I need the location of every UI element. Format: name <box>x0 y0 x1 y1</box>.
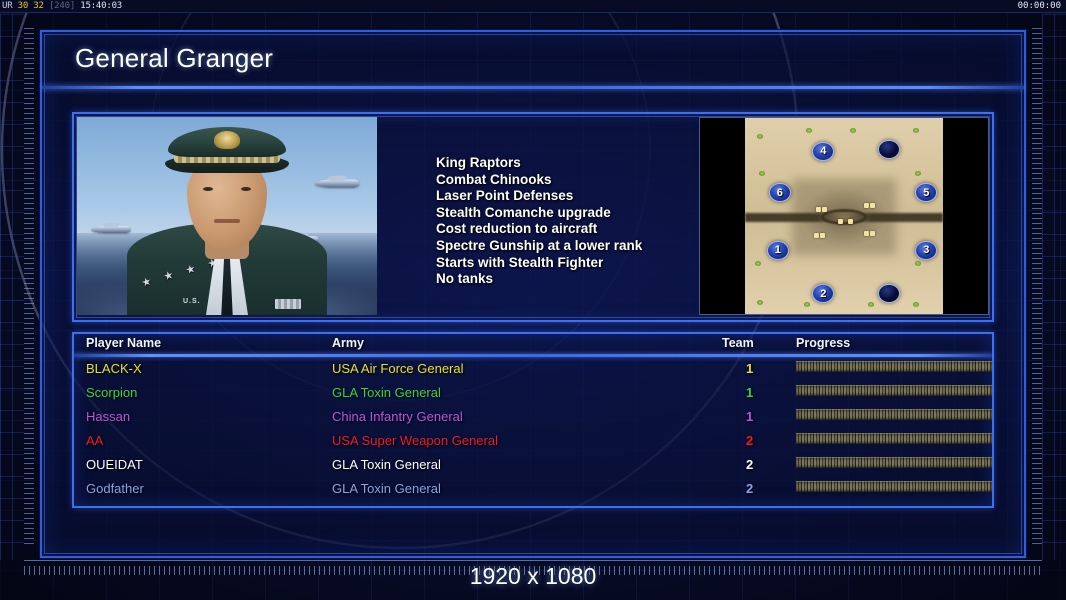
army-cell: USA Air Force General <box>332 361 464 376</box>
team-cell: 1 <box>746 385 753 400</box>
map-resource-icon <box>913 128 919 133</box>
player-name-cell: Scorpion <box>86 385 137 400</box>
map-resource-icon <box>806 128 812 133</box>
team-cell: 2 <box>746 457 753 472</box>
resolution-bar: 1920 x 1080 <box>0 560 1066 592</box>
ability-item: Spectre Gunship at a lower rank <box>436 238 692 255</box>
map-supply-icon <box>822 207 827 212</box>
ability-item: King Raptors <box>436 155 692 172</box>
team-cell: 1 <box>746 409 753 424</box>
progress-bar <box>796 385 992 396</box>
map-start-slot[interactable]: 2 <box>812 284 834 303</box>
frame-ticks-left <box>0 14 24 560</box>
map-resource-icon <box>757 134 763 139</box>
map-supply-icon <box>870 203 875 208</box>
ability-item: Laser Point Defenses <box>436 188 692 205</box>
column-header-player-name: Player Name <box>86 336 161 350</box>
match-timer: 00:00:00 <box>1018 1 1061 12</box>
resolution-label: 1920 x 1080 <box>470 563 597 590</box>
map-supply-icon <box>838 219 843 224</box>
map-start-slot-empty[interactable] <box>878 284 900 303</box>
table-row[interactable]: ScorpionGLA Toxin General1 <box>74 382 992 406</box>
fps-value-c: [240] <box>49 1 75 11</box>
map-supply-icon <box>864 203 869 208</box>
table-row[interactable]: OUEIDATGLA Toxin General2 <box>74 454 992 478</box>
map-resource-icon <box>915 171 921 176</box>
map-start-slot-empty[interactable] <box>878 140 900 159</box>
ability-item: Combat Chinooks <box>436 172 692 189</box>
map-resource-icon <box>850 128 856 133</box>
general-abilities-list: King Raptors Combat Chinooks Laser Point… <box>386 117 692 317</box>
map-preview: 465132 <box>699 117 989 315</box>
army-cell: China Infantry General <box>332 409 463 424</box>
map-supply-icon <box>864 231 869 236</box>
title-divider <box>42 86 1024 89</box>
table-row[interactable]: BLACK-XUSA Air Force General1 <box>74 358 992 382</box>
progress-bar <box>796 481 992 492</box>
ability-item: Cost reduction to aircraft <box>436 221 692 238</box>
map-terrain: 465132 <box>745 118 943 315</box>
ability-item: Starts with Stealth Fighter <box>436 255 692 272</box>
map-start-slot[interactable]: 1 <box>767 241 789 260</box>
army-cell: USA Super Weapon General <box>332 433 498 448</box>
map-resource-icon <box>868 302 874 307</box>
map-start-slot[interactable]: 6 <box>769 183 791 202</box>
map-start-slot[interactable]: 3 <box>915 241 937 260</box>
army-cell: GLA Toxin General <box>332 481 441 496</box>
fps-label: UR <box>2 1 12 11</box>
column-header-progress: Progress <box>796 336 850 350</box>
window-titlebar: General Granger <box>42 32 1024 88</box>
table-row[interactable]: HassanChina Infantry General1 <box>74 406 992 430</box>
frame-ticks-right <box>1042 14 1066 560</box>
army-cell: GLA Toxin General <box>332 457 441 472</box>
general-figure: ★ ★ ★ ★ U.S. <box>123 137 331 315</box>
ability-item: No tanks <box>436 271 692 288</box>
map-supply-icon <box>848 219 853 224</box>
team-cell: 2 <box>746 481 753 496</box>
column-header-army: Army <box>332 336 364 350</box>
map-resource-icon <box>759 171 765 176</box>
top-status-bar: UR 30 32 [240] 15:40:03 00:00:00 <box>0 0 1066 13</box>
map-resource-icon <box>757 300 763 305</box>
map-resource-icon <box>915 261 921 266</box>
fps-value-b: 32 <box>33 1 43 11</box>
table-row[interactable]: AAUSA Super Weapon General2 <box>74 430 992 454</box>
map-resource-icon <box>913 302 919 307</box>
fps-value-a: 30 <box>18 1 28 11</box>
eye-left <box>203 187 213 191</box>
ability-item: Stealth Comanche upgrade <box>436 205 692 222</box>
progress-bar <box>796 433 992 444</box>
map-center-ring <box>821 209 867 225</box>
eagle-emblem-icon <box>214 131 240 149</box>
player-name-cell: OUEIDAT <box>86 457 143 472</box>
screen-root: UR 30 32 [240] 15:40:03 00:00:00 General… <box>0 0 1066 600</box>
army-cell: GLA Toxin General <box>332 385 441 400</box>
player-name-cell: Hassan <box>86 409 130 424</box>
uniform-label: U.S. <box>183 298 201 305</box>
progress-bar <box>796 457 992 468</box>
ribbon-icon <box>275 299 301 309</box>
column-header-team: Team <box>722 336 754 350</box>
team-cell: 1 <box>746 361 753 376</box>
loading-window: General Granger ★ ★ ★ ★ U.S. <box>40 30 1026 558</box>
progress-bar <box>796 409 992 420</box>
table-header-divider <box>74 354 992 357</box>
fps-readout: UR 30 32 [240] 15:40:03 <box>2 1 122 12</box>
map-start-slot[interactable]: 5 <box>915 183 937 202</box>
table-header: Player Name Army Team Progress <box>74 334 992 356</box>
map-supply-icon <box>816 207 821 212</box>
map-supply-icon <box>820 233 825 238</box>
map-resource-icon <box>804 302 810 307</box>
general-portrait: ★ ★ ★ ★ U.S. <box>77 117 377 315</box>
page-title: General Granger <box>75 43 273 74</box>
player-rows: BLACK-XUSA Air Force General1ScorpionGLA… <box>74 358 992 502</box>
map-start-slot[interactable]: 4 <box>812 142 834 161</box>
map-supply-icon <box>870 231 875 236</box>
eye-right <box>241 187 251 191</box>
table-row[interactable]: GodfatherGLA Toxin General2 <box>74 478 992 502</box>
progress-bar <box>796 361 992 372</box>
mouth <box>214 219 240 223</box>
team-cell: 2 <box>746 433 753 448</box>
map-supply-icon <box>814 233 819 238</box>
player-name-cell: AA <box>86 433 103 448</box>
system-clock: 15:40:03 <box>80 1 122 11</box>
player-name-cell: Godfather <box>86 481 144 496</box>
player-name-cell: BLACK-X <box>86 361 142 376</box>
map-resource-icon <box>755 261 761 266</box>
player-list-panel: Player Name Army Team Progress BLACK-XUS… <box>72 332 994 508</box>
general-info-panel: ★ ★ ★ ★ U.S. <box>72 112 994 322</box>
